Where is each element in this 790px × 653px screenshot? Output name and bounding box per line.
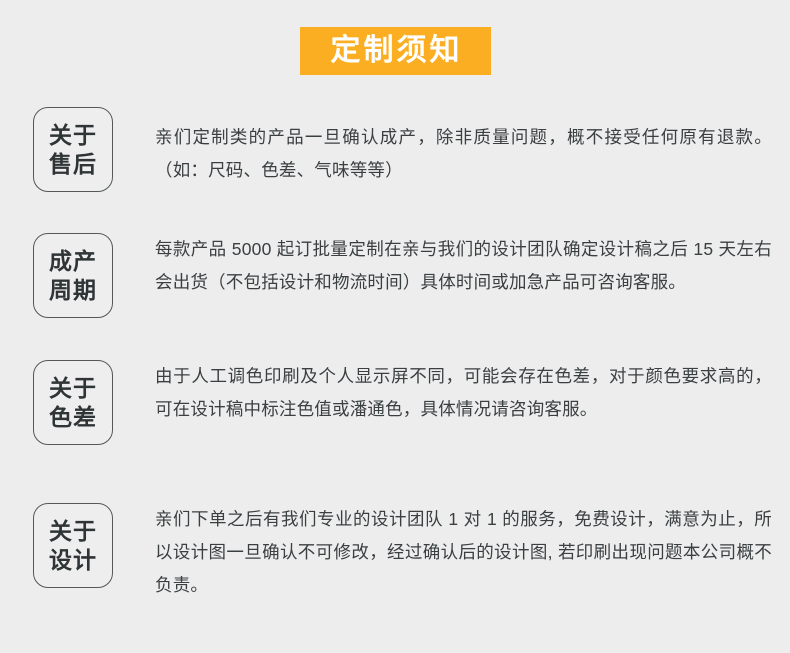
notice-section: 关于 售后 亲们定制类的产品一旦确认成产，除非质量问题，概不接受任何原有退款。（… <box>0 107 790 192</box>
badge-label-line1: 关于 <box>49 374 97 403</box>
notice-section: 关于 色差 由于人工调色印刷及个人显示屏不同，可能会存在色差，对于颜色要求高的，… <box>0 360 790 445</box>
section-body-text: 亲们下单之后有我们专业的设计团队 1 对 1 的服务，免费设计，满意为止，所以设… <box>113 503 790 602</box>
badge-label-line2: 售后 <box>49 150 97 179</box>
badge-label-line1: 成产 <box>49 247 97 276</box>
badge-label-line2: 周期 <box>49 276 97 305</box>
section-badge-production-cycle: 成产 周期 <box>33 233 113 318</box>
section-body-text: 由于人工调色印刷及个人显示屏不同，可能会存在色差，对于颜色要求高的，可在设计稿中… <box>113 360 790 426</box>
section-badge-color-difference: 关于 色差 <box>33 360 113 445</box>
page-title-container: 定制须知 <box>0 27 790 75</box>
section-badge-after-sales: 关于 售后 <box>33 107 113 192</box>
badge-label-line1: 关于 <box>49 517 97 546</box>
notice-section-list: 关于 售后 亲们定制类的产品一旦确认成产，除非质量问题，概不接受任何原有退款。（… <box>0 100 790 602</box>
customization-notice-page: 定制须知 关于 售后 亲们定制类的产品一旦确认成产，除非质量问题，概不接受任何原… <box>0 0 790 653</box>
section-body-text: 亲们定制类的产品一旦确认成产，除非质量问题，概不接受任何原有退款。（如：尺码、色… <box>113 107 790 187</box>
page-title: 定制须知 <box>300 27 491 75</box>
section-body-text: 每款产品 5000 起订批量定制在亲与我们的设计团队确定设计稿之后 15 天左右… <box>113 233 790 299</box>
badge-label-line2: 设计 <box>49 546 97 575</box>
badge-label-line1: 关于 <box>49 121 97 150</box>
section-badge-design: 关于 设计 <box>33 503 113 588</box>
notice-section: 关于 设计 亲们下单之后有我们专业的设计团队 1 对 1 的服务，免费设计，满意… <box>0 503 790 602</box>
notice-section: 成产 周期 每款产品 5000 起订批量定制在亲与我们的设计团队确定设计稿之后 … <box>0 233 790 318</box>
badge-label-line2: 色差 <box>49 403 97 432</box>
